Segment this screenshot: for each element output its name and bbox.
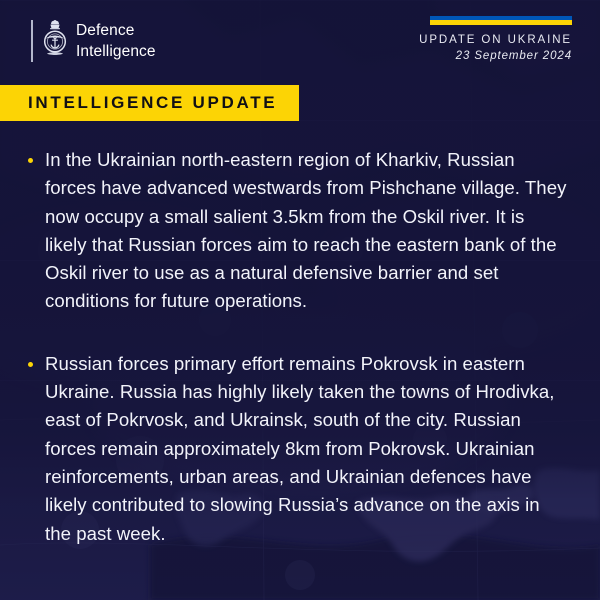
banner-label: INTELLIGENCE UPDATE <box>28 93 277 113</box>
defence-intelligence-branding: Defence Intelligence <box>31 20 156 62</box>
brand-line-2: Intelligence <box>76 42 156 63</box>
update-date: 23 September 2024 <box>419 50 572 62</box>
bullet-list: In the Ukrainian north-eastern region of… <box>28 146 568 582</box>
update-title: UPDATE ON UKRAINE <box>419 34 572 46</box>
brand-wordmark: Defence Intelligence <box>76 20 156 62</box>
yellow-dot-bullet-icon <box>28 362 33 367</box>
list-item: Russian forces primary effort remains Po… <box>28 350 568 548</box>
bullet-paragraph: In the Ukrainian north-eastern region of… <box>45 146 568 316</box>
intelligence-update-banner: INTELLIGENCE UPDATE <box>0 85 299 121</box>
intelligence-update-poster: Defence Intelligence UPDATE ON UKRAINE 2… <box>0 0 600 600</box>
royal-crown-naval-crest-icon <box>42 20 68 62</box>
bullet-paragraph: Russian forces primary effort remains Po… <box>45 350 568 548</box>
brand-divider-rule <box>31 20 33 62</box>
yellow-dot-bullet-icon <box>28 158 33 163</box>
list-item: In the Ukrainian north-eastern region of… <box>28 146 568 316</box>
update-meta-block: UPDATE ON UKRAINE 23 September 2024 <box>419 16 572 62</box>
poster-header: Defence Intelligence UPDATE ON UKRAINE 2… <box>0 0 600 82</box>
flag-yellow-stripe <box>430 20 572 25</box>
ukraine-flag-bar-icon <box>430 16 572 25</box>
brand-line-1: Defence <box>76 21 156 42</box>
